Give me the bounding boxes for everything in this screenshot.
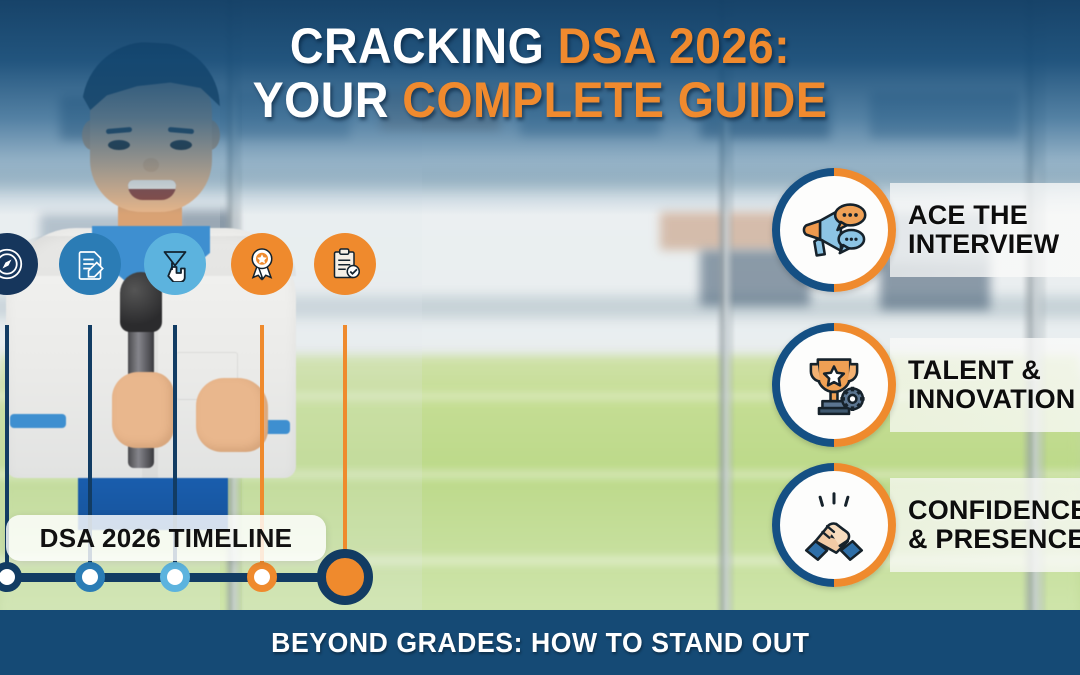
bottom-banner-text: BEYOND GRADES: HOW TO STAND OUT	[271, 627, 809, 659]
feature-label-line1: CONFIDENCE	[908, 495, 1080, 525]
timeline-icon-award-ribbon[interactable]	[231, 233, 293, 295]
feature-ring	[772, 323, 896, 447]
feature-ace-the-interview[interactable]: ACE THE INTERVIEW	[772, 165, 1080, 295]
infographic-canvas: CRACKING DSA 2026: YOUR COMPLETE GUIDE	[0, 0, 1080, 675]
timeline-pill-text: DSA 2026 TIMELINE	[40, 523, 293, 554]
title-line2-highlight: COMPLETE GUIDE	[402, 72, 827, 128]
feature-talent-innovation[interactable]: TALENT & INNOVATION	[772, 320, 1080, 450]
title-line2-white: YOUR	[253, 72, 403, 128]
feature-label-line1: ACE THE	[908, 200, 1028, 230]
feature-label-line2: & PRESENCE	[908, 525, 1080, 554]
title-line1-white: CRACKING	[290, 18, 558, 74]
trophy-gear-icon	[780, 331, 888, 439]
feature-label: ACE THE INTERVIEW	[908, 201, 1059, 258]
feature-ring	[772, 168, 896, 292]
clasped-hands-icon	[780, 471, 888, 579]
timeline-node-final[interactable]	[317, 549, 373, 605]
page-title: CRACKING DSA 2026: YOUR COMPLETE GUIDE	[38, 22, 1042, 124]
timeline-node[interactable]	[160, 562, 190, 592]
timeline-stem	[343, 325, 347, 575]
timeline-icon-hand-select[interactable]	[144, 233, 206, 295]
feature-label-line2: INNOVATION	[908, 385, 1076, 414]
feature-label: CONFIDENCE & PRESENCE	[908, 496, 1080, 553]
feature-label-line2: INTERVIEW	[908, 230, 1059, 259]
title-line1-highlight: DSA 2026:	[558, 18, 790, 74]
timeline-icon-results-clipboard[interactable]	[314, 233, 376, 295]
dsa-timeline: March: Explore May: Apply July: Selectio…	[0, 225, 420, 445]
timeline-pill-label: DSA 2026 TIMELINE	[6, 515, 326, 561]
timeline-node[interactable]	[247, 562, 277, 592]
bottom-banner: BEYOND GRADES: HOW TO STAND OUT	[0, 610, 1080, 675]
feature-label: TALENT & INNOVATION	[908, 356, 1076, 413]
timeline-node[interactable]	[75, 562, 105, 592]
feature-label-line1: TALENT &	[908, 355, 1041, 385]
timeline-icon-application-form[interactable]	[59, 233, 121, 295]
megaphone-speech-icon	[780, 176, 888, 284]
feature-ring	[772, 463, 896, 587]
timeline-icon-compass[interactable]	[0, 233, 38, 295]
feature-confidence-presence[interactable]: CONFIDENCE & PRESENCE	[772, 460, 1080, 590]
